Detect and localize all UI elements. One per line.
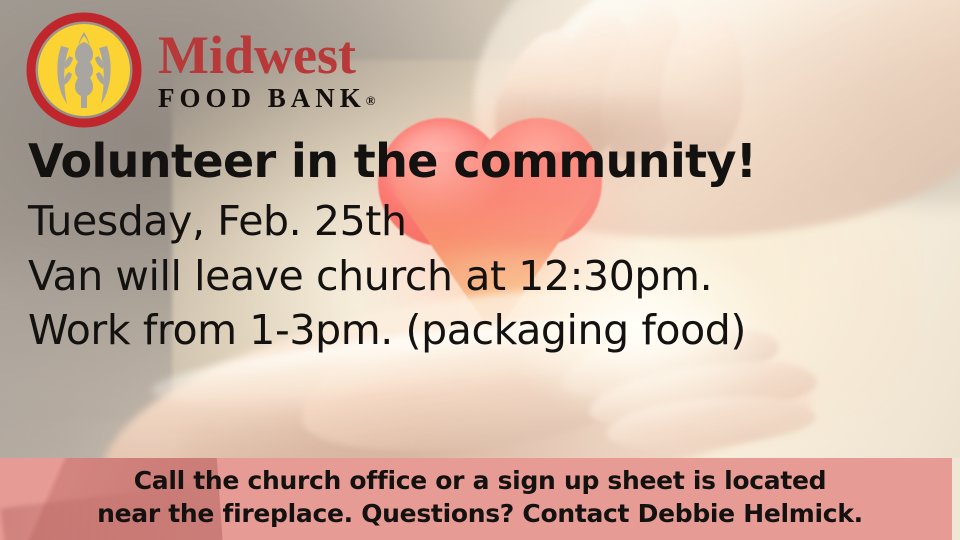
registered-trademark-icon: ® [366,93,376,108]
banner-text: Call the church office or a sign up shee… [0,458,960,530]
midwest-food-bank-logo: Midwest FOOD BANK® [26,12,375,128]
poster: Midwest FOOD BANK® Volunteer in the comm… [0,0,960,540]
event-date-line: Tuesday, Feb. 25th [28,194,940,249]
banner-line-2: near the fireplace. Questions? Contact D… [0,497,960,530]
departure-line: Van will leave church at 12:30pm. [28,249,940,304]
logo-wordmark: Midwest FOOD BANK® [158,30,375,112]
page-title: Volunteer in the community! [28,138,940,184]
banner-line-1: Call the church office or a sign up shee… [0,464,960,497]
contact-banner: Call the church office or a sign up shee… [0,458,960,540]
logo-brand-secondary-text: FOOD BANK [158,83,366,113]
wheat-in-circle-icon [26,12,142,128]
logo-brand-secondary: FOOD BANK® [158,84,375,112]
work-hours-line: Work from 1-3pm. (packaging food) [28,303,940,358]
logo-brand-primary: Midwest [158,30,375,82]
poster-copy: Volunteer in the community! Tuesday, Feb… [28,138,940,358]
